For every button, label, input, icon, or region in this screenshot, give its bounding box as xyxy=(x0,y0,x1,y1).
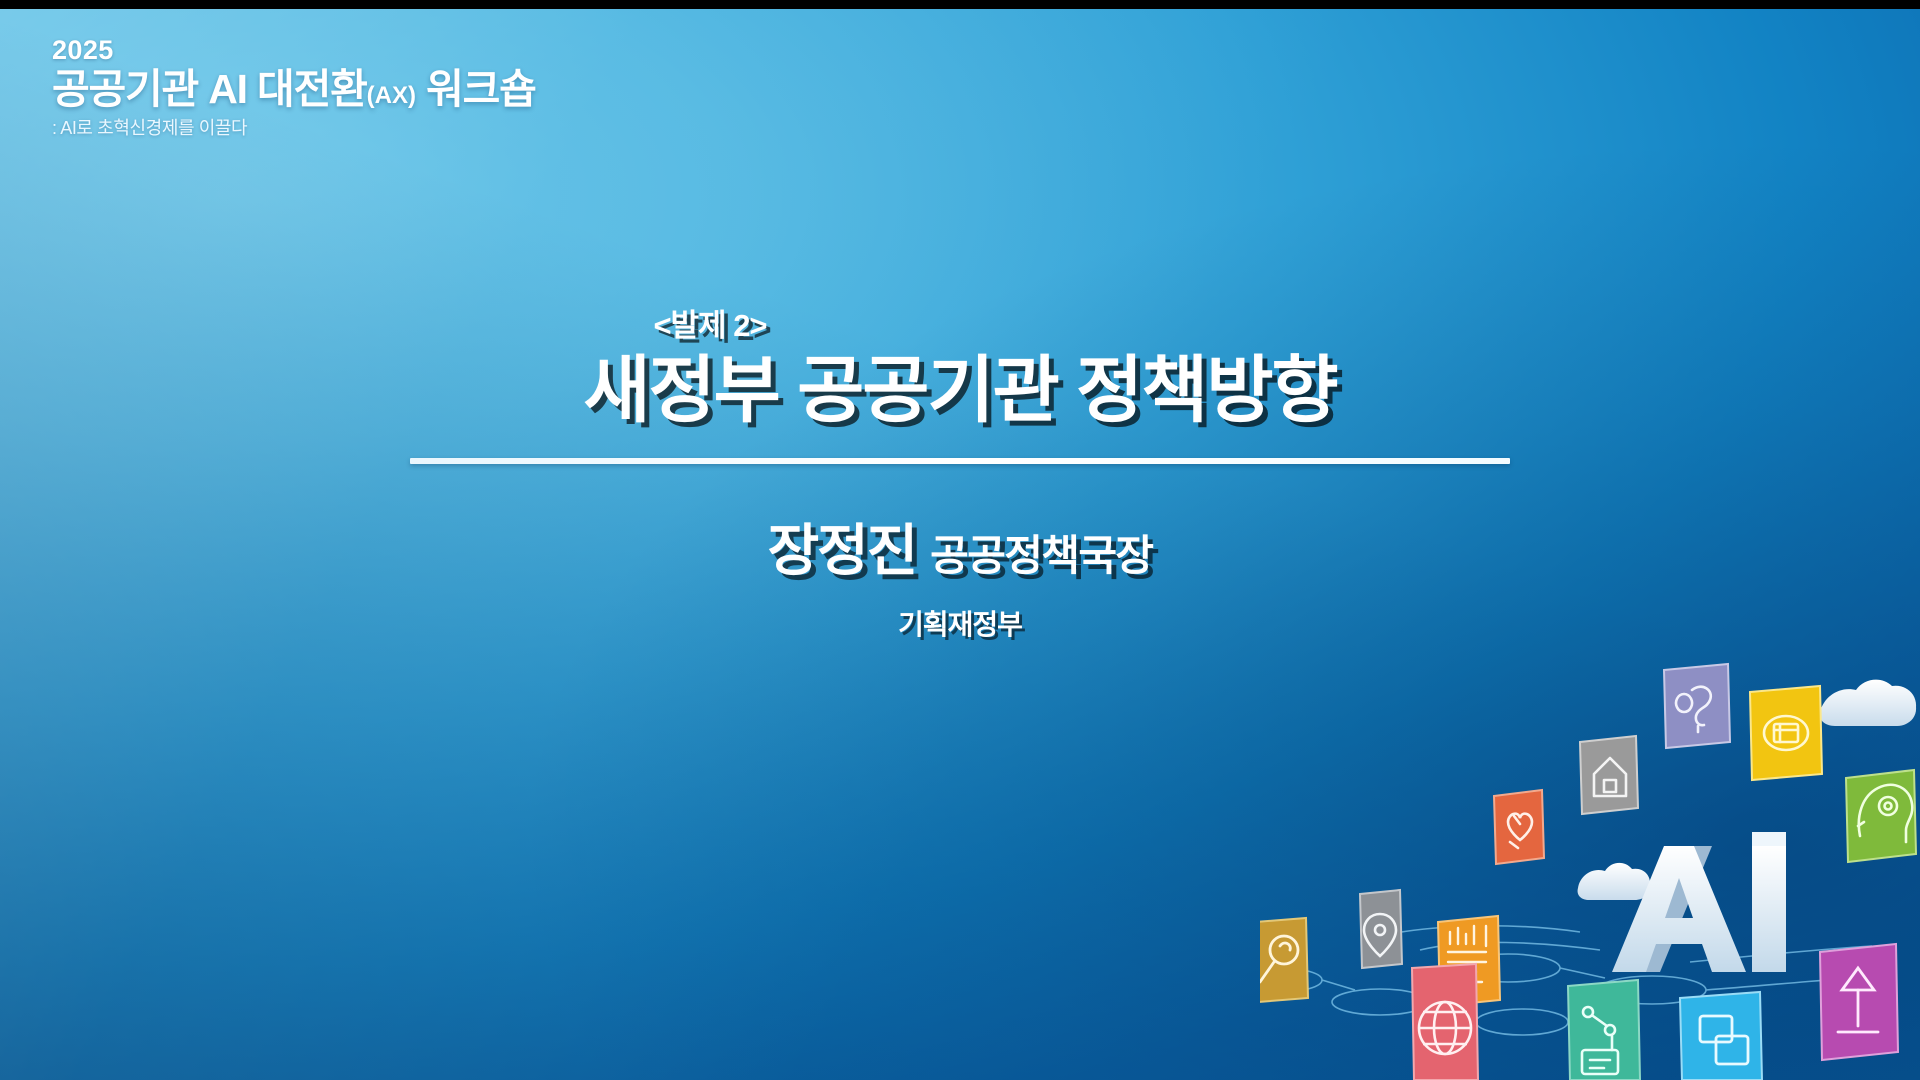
icon-card-magnifier xyxy=(1260,918,1308,1002)
title-block: <발제 2> 새정부 공공기관 정책방향 장정진공공정책국장 기획재정부 xyxy=(0,300,1920,643)
icon-card-location-pin xyxy=(1360,890,1402,968)
event-subtitle: : AI로 초혁신경제를 이끌다 xyxy=(52,119,536,139)
event-title: 공공기관 AI 대전환(AX) 워크숍 xyxy=(52,67,536,111)
icon-card-head-profile xyxy=(1846,770,1916,862)
presentation-title: 새정부 공공기관 정책방향 xyxy=(583,349,1336,434)
event-title-tail: 워크숍 xyxy=(416,66,536,112)
slide-canvas: 2025 공공기관 AI 대전환(AX) 워크숍 : AI로 초혁신경제를 이끌… xyxy=(0,0,1920,1080)
icon-card-desk-lamp xyxy=(1820,944,1898,1060)
icon-card-windows xyxy=(1680,992,1762,1080)
event-header: 2025 공공기관 AI 대전환(AX) 워크숍 : AI로 초혁신경제를 이끌… xyxy=(52,36,536,138)
cloud-icon xyxy=(1578,863,1651,900)
icon-card-document xyxy=(1750,686,1822,780)
cloud-icon xyxy=(1820,680,1916,726)
icon-card-idea-brain xyxy=(1664,664,1730,748)
speaker-name: 장정진 xyxy=(768,519,917,582)
icon-card-robot-arm xyxy=(1568,980,1640,1080)
event-title-suffix: (AX) xyxy=(367,82,416,109)
event-year: 2025 xyxy=(52,36,536,64)
speaker-organization: 기획재정부 xyxy=(898,603,1022,643)
icon-card-house xyxy=(1580,736,1638,814)
title-divider xyxy=(410,458,1510,464)
speaker-role: 공공정책국장 xyxy=(930,532,1152,579)
ai-wordmark xyxy=(1612,832,1786,972)
speaker-line: 장정진공공정책국장 xyxy=(768,506,1153,587)
event-title-main: 공공기관 AI 대전환 xyxy=(52,66,367,112)
ai-artwork xyxy=(1260,650,1920,1080)
icon-card-globe xyxy=(1412,964,1478,1080)
letterbox-bar-top xyxy=(0,0,1920,9)
icon-card-heart-hand xyxy=(1494,790,1544,864)
session-badge: <발제 2> xyxy=(653,300,766,345)
